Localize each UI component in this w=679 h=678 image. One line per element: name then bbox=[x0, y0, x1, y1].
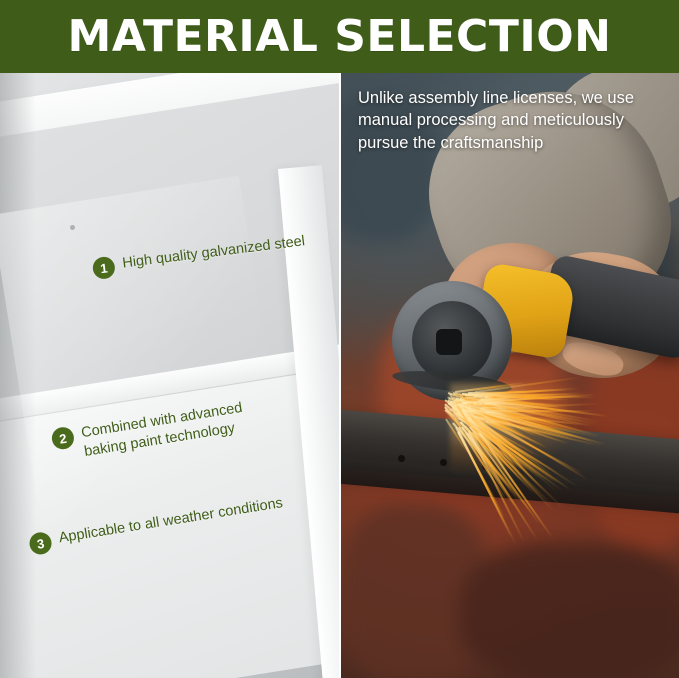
page-title: MATERIAL SELECTION bbox=[68, 15, 612, 59]
bokeh-blob bbox=[460, 543, 679, 678]
workpiece-hole bbox=[440, 459, 447, 466]
panel-divider bbox=[339, 73, 341, 678]
panel-caption: Unlike assembly line licenses, we use ma… bbox=[358, 87, 646, 154]
poster-body: 1 High quality galvanized steel 2 Combin… bbox=[0, 73, 679, 678]
bullet-number-badge: 2 bbox=[50, 426, 75, 451]
angle-grinder-hub bbox=[436, 329, 462, 355]
material-selection-poster: MATERIAL SELECTION 1 High quality galvan… bbox=[0, 0, 679, 678]
bullet-number-badge: 3 bbox=[28, 531, 53, 556]
workpiece-hole bbox=[482, 463, 489, 470]
right-image-panel: Unlike assembly line licenses, we use ma… bbox=[340, 73, 679, 678]
bullet-number-badge: 1 bbox=[92, 256, 117, 281]
cabinet-left-shadow bbox=[0, 73, 36, 678]
header-banner: MATERIAL SELECTION bbox=[0, 0, 679, 73]
cabinet-surface-speck bbox=[70, 225, 75, 230]
workpiece-hole bbox=[398, 455, 405, 462]
left-image-panel: 1 High quality galvanized steel 2 Combin… bbox=[0, 73, 340, 678]
